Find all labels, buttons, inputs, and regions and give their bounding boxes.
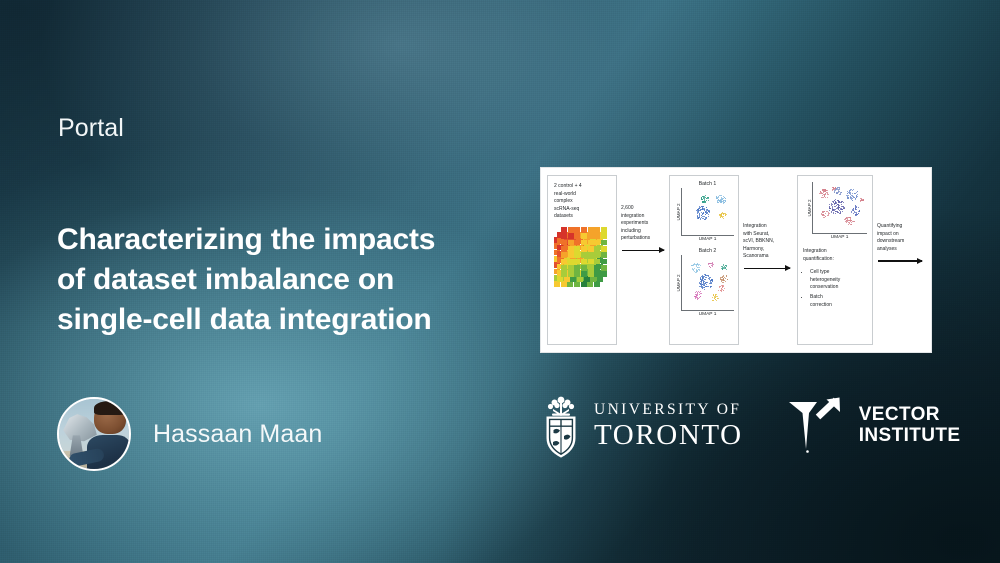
- uoft-wordmark: UNIVERSITY OF TORONTO: [594, 402, 743, 450]
- heatmap-cell: [594, 281, 600, 287]
- datasets-caption: 2 control + 4 real-world complex scRNA-s…: [554, 183, 610, 221]
- heatmap-cell: [561, 246, 567, 252]
- heatmap-cell: [588, 227, 594, 233]
- heatmap-cell: [574, 240, 580, 246]
- heatmap-cell: [601, 240, 607, 246]
- umap-cluster: [720, 263, 727, 271]
- umap-cluster: [831, 186, 836, 191]
- heatmap-cell: [601, 259, 607, 265]
- title-line-1: Characterizing the impacts: [57, 220, 477, 260]
- batch1-y-label: UMAP 2: [676, 203, 681, 220]
- experiments-caption-line-4: including: [621, 228, 665, 236]
- uoft-crest-icon: [540, 392, 582, 460]
- heatmap-cell: [594, 240, 600, 246]
- heatmap-cell: [568, 246, 574, 252]
- heatmap-cell: [568, 227, 574, 233]
- batch2-x-label: UMAP 1: [681, 312, 734, 317]
- vector-line-1: VECTOR: [859, 405, 961, 426]
- heatmap-cell: [568, 271, 574, 277]
- heatmap-cell: [574, 259, 580, 265]
- downstream-caption: Quantifying impact on downstream analyse…: [877, 223, 922, 253]
- heatmap-cell: [567, 281, 573, 287]
- quantification-heading: Integration quantification:: [803, 248, 867, 263]
- presenter-name: Hassaan Maan: [153, 420, 322, 449]
- figure-panel-integrated: UMAP 2 UMAP 1 Integration quantification…: [797, 175, 873, 345]
- presentation-slide: Portal Characterizing the impacts of dat…: [0, 0, 1000, 563]
- heatmap-cell: [568, 265, 574, 271]
- heatmap-cell: [577, 276, 583, 282]
- heatmap-cell: [561, 227, 567, 233]
- heatmap-cell: [581, 233, 587, 239]
- heatmap-cell: [574, 281, 580, 287]
- vector-line-2: INSTITUTE: [859, 426, 961, 447]
- list-item: Batch correction: [810, 294, 867, 309]
- vector-institute-logo: VECTOR INSTITUTE: [787, 397, 961, 455]
- avatar: [57, 397, 131, 471]
- heatmap-cell: [561, 265, 567, 271]
- heatmap-layer-front: [561, 227, 607, 277]
- title-line-2: of dataset imbalance on: [57, 260, 477, 300]
- heatmap-cell: [581, 281, 587, 287]
- heatmap-cell: [588, 259, 594, 265]
- heatmap-cell: [581, 271, 587, 277]
- heatmap-cell: [594, 252, 600, 258]
- integration-caption-line-1: Integration: [743, 223, 793, 231]
- quant-item-2-line-1: Batch: [810, 294, 867, 302]
- heatmap-cell: [581, 259, 587, 265]
- right-arrow-icon: [878, 260, 922, 261]
- downstream-caption-line-3: downstream: [877, 238, 922, 246]
- heatmap-cell: [574, 252, 580, 258]
- integration-caption-line-4: Harmony,: [743, 246, 793, 254]
- batch2-umap-plot: UMAP 2 UMAP 1: [681, 255, 734, 317]
- integrated-axes: UMAP 2: [812, 182, 867, 234]
- quant-item-1-line-1: Cell type: [810, 269, 867, 277]
- umap-cluster: [828, 198, 845, 214]
- integration-caption-line-5: Scanorama: [743, 253, 793, 261]
- datasets-caption-line-5: datasets: [554, 213, 610, 221]
- heatmap-cell: [594, 271, 600, 277]
- downstream-caption-line-4: analyses: [877, 246, 922, 254]
- heatmap-cell: [561, 233, 567, 239]
- quantification-heading-line-1: Integration: [803, 248, 867, 256]
- integration-caption-line-2: with Seurat,: [743, 231, 793, 239]
- title-line-3: single-cell data integration: [57, 300, 477, 340]
- umap-cluster: [690, 262, 700, 273]
- batch2-axes: UMAP 2: [681, 255, 734, 311]
- heatmap-cell: [601, 233, 607, 239]
- uoft-logo: UNIVERSITY OF TORONTO: [540, 392, 743, 460]
- integrated-y-label: UMAP 2: [807, 199, 812, 216]
- batch1-axes: UMAP 2: [681, 188, 734, 236]
- slide-kicker: Portal: [58, 114, 124, 143]
- umap-cluster: [717, 284, 724, 292]
- heatmap-cell: [588, 246, 594, 252]
- heatmap-cell: [561, 281, 567, 287]
- umap-cluster: [711, 294, 718, 302]
- umap-cluster: [719, 274, 727, 283]
- page-title: Characterizing the impacts of dataset im…: [57, 220, 477, 340]
- heatmap-cell: [588, 271, 594, 277]
- batch1-umap-plot: UMAP 2 UMAP 1: [681, 188, 734, 242]
- umap-cluster: [700, 194, 709, 202]
- heatmap-cell: [590, 276, 596, 282]
- heatmap-cell: [584, 276, 590, 282]
- heatmap-cell: [574, 246, 580, 252]
- heatmap-cell: [588, 240, 594, 246]
- heatmap-cell: [601, 265, 607, 271]
- heatmap-cell: [574, 227, 580, 233]
- datasets-caption-line-1: 2 control + 4: [554, 183, 610, 191]
- umap-cluster: [845, 188, 858, 200]
- heatmap-cell: [594, 227, 600, 233]
- batch2-y-label: UMAP 2: [676, 274, 681, 291]
- quant-item-2-line-2: correction: [810, 302, 867, 310]
- heatmap-cell: [601, 246, 607, 252]
- quant-item-1-line-3: conservation: [810, 284, 867, 292]
- logo-row: UNIVERSITY OF TORONTO VECTOR INSTITUTE: [540, 392, 960, 460]
- umap-cluster: [843, 216, 854, 226]
- heatmap-cell: [561, 259, 567, 265]
- umap-cluster: [818, 188, 829, 198]
- right-arrow-icon: [622, 250, 664, 251]
- list-item: Cell type heterogeneity conservation: [810, 269, 867, 292]
- figure-panel-batches: Batch 1 UMAP 2 UMAP 1 Batch 2 UMAP 2 UMA…: [669, 175, 739, 345]
- heatmap-cell: [587, 281, 593, 287]
- heatmap-cell: [554, 281, 560, 287]
- quant-item-1-line-2: heterogeneity: [810, 277, 867, 285]
- quantification-heading-line-2: quantification:: [803, 256, 867, 264]
- heatmap-cell: [601, 271, 607, 277]
- heatmap-cell: [561, 252, 567, 258]
- uoft-line-1: UNIVERSITY OF: [594, 402, 743, 418]
- heatmap-cell: [568, 252, 574, 258]
- vector-wordmark: VECTOR INSTITUTE: [859, 405, 961, 446]
- figure-step-experiments: 2,600 integration experiments including …: [617, 175, 669, 345]
- vector-arrow-icon: [787, 397, 847, 455]
- heatmap-cell: [581, 227, 587, 233]
- integrated-x-label: UMAP 1: [812, 235, 867, 240]
- heatmap-cell: [594, 233, 600, 239]
- umap-cluster: [850, 205, 861, 215]
- study-overview-figure: 2 control + 4 real-world complex scRNA-s…: [540, 167, 932, 353]
- experiments-caption-line-1: 2,600: [621, 205, 665, 213]
- experiments-caption: 2,600 integration experiments including …: [621, 205, 665, 243]
- heatmap-cell: [574, 265, 580, 271]
- umap-cluster: [693, 290, 702, 300]
- experiments-caption-line-3: experiments: [621, 220, 665, 228]
- heatmap-cell: [594, 259, 600, 265]
- experiments-caption-line-2: integration: [621, 213, 665, 221]
- heatmap-cell: [588, 252, 594, 258]
- right-arrow-icon: [744, 268, 790, 269]
- integration-caption-line-3: scVI, BBKNN,: [743, 238, 793, 246]
- heatmap-cell: [574, 233, 580, 239]
- datasets-caption-line-4: scRNA-seq: [554, 206, 610, 214]
- umap-cluster: [859, 197, 864, 202]
- uoft-line-2: TORONTO: [594, 421, 743, 450]
- experiments-caption-line-5: perturbations: [621, 235, 665, 243]
- batch1-title: Batch 1: [681, 181, 734, 187]
- avatar-hair: [94, 401, 126, 415]
- umap-cluster: [714, 194, 725, 204]
- heatmap-cell: [601, 252, 607, 258]
- umap-cluster: [707, 261, 713, 268]
- heatmap-cell: [557, 276, 563, 282]
- heatmap-cell: [561, 240, 567, 246]
- figure-step-integration: Integration with Seurat, scVI, BBKNN, Ha…: [739, 175, 797, 345]
- umap-cluster: [693, 205, 710, 220]
- heatmap-cell: [581, 240, 587, 246]
- integration-caption: Integration with Seurat, scVI, BBKNN, Ha…: [743, 223, 793, 261]
- heatmap-cell: [568, 259, 574, 265]
- heatmap-cell: [574, 271, 580, 277]
- presenter-block: Hassaan Maan: [57, 397, 322, 471]
- datasets-caption-line-2: real-world: [554, 191, 610, 199]
- downstream-caption-line-2: impact on: [877, 231, 922, 239]
- batch1-x-label: UMAP 1: [681, 237, 734, 242]
- heatmap-cell: [581, 252, 587, 258]
- heatmap-cell: [581, 265, 587, 271]
- figure-step-downstream: Quantifying impact on downstream analyse…: [873, 175, 926, 345]
- heatmap-cell: [568, 233, 574, 239]
- heatmap-cell: [588, 233, 594, 239]
- heatmap-cell: [588, 265, 594, 271]
- batch2-title: Batch 2: [681, 248, 734, 254]
- heatmap-cell: [597, 276, 603, 282]
- downstream-caption-line-1: Quantifying: [877, 223, 922, 231]
- heatmap-cell: [581, 246, 587, 252]
- figure-panel-datasets: 2 control + 4 real-world complex scRNA-s…: [547, 175, 617, 345]
- heatmap-cell: [594, 265, 600, 271]
- umap-cluster: [718, 211, 726, 219]
- datasets-caption-line-3: complex: [554, 198, 610, 206]
- heatmap-cell: [564, 276, 570, 282]
- heatmap-cell: [601, 227, 607, 233]
- umap-cluster: [697, 273, 713, 290]
- stacked-heatmaps-graphic: [554, 227, 610, 289]
- umap-cluster: [821, 210, 830, 218]
- integrated-umap-plot: UMAP 2 UMAP 1: [803, 182, 867, 240]
- quantification-list: Cell type heterogeneity conservation Bat…: [803, 269, 867, 309]
- heatmap-cell: [594, 246, 600, 252]
- heatmap-cell: [568, 240, 574, 246]
- heatmap-cell: [570, 276, 576, 282]
- heatmap-cell: [561, 271, 567, 277]
